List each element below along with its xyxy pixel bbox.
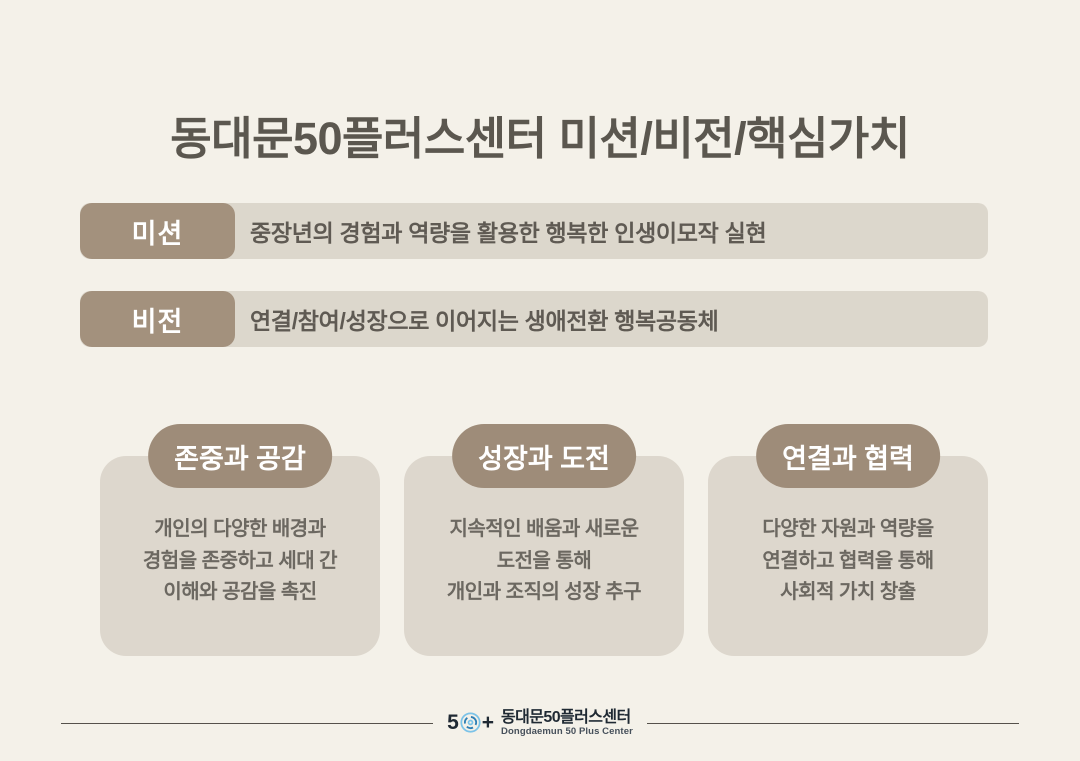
core-value-card-collaboration: 연결과 협력 다양한 자원과 역량을 연결하고 협력을 통해 사회적 가치 창출 — [708, 456, 988, 656]
footer-divider-right — [647, 723, 1019, 724]
description-line: 연결하고 협력을 통해 — [718, 546, 978, 578]
core-value-heading: 존중과 공감 — [148, 424, 332, 488]
description-line: 경험을 존중하고 세대 간 — [110, 546, 370, 578]
footer-divider-left — [61, 723, 433, 724]
description-line: 이해와 공감을 촉진 — [110, 577, 370, 609]
center-logo: 5 + 동대문50플러스센터 Dongdaemun 50 Plus Center — [433, 709, 647, 737]
page-title: 동대문50플러스센터 미션/비전/핵심가치 — [0, 102, 1080, 167]
description-line: 도전을 통해 — [414, 546, 674, 578]
vision-text: 연결/참여/성장으로 이어지는 생애전환 행복공동체 — [250, 291, 719, 347]
vision-row: 비전 연결/참여/성장으로 이어지는 생애전환 행복공동체 — [80, 291, 988, 347]
footer: 5 + 동대문50플러스센터 Dongdaemun 50 Plus Center — [0, 700, 1080, 746]
description-line: 지속적인 배움과 새로운 — [414, 514, 674, 546]
core-value-description: 개인의 다양한 배경과 경험을 존중하고 세대 간 이해와 공감을 촉진 — [110, 514, 370, 609]
description-line: 개인의 다양한 배경과 — [110, 514, 370, 546]
core-value-description: 지속적인 배움과 새로운 도전을 통해 개인과 조직의 성장 추구 — [414, 514, 674, 609]
fifty-plus-logo-mark: 5 + — [447, 712, 494, 733]
mission-text: 중장년의 경험과 역량을 활용한 행복한 인생이모작 실현 — [250, 203, 766, 259]
description-line: 사회적 가치 창출 — [718, 577, 978, 609]
logo-wordmark: 동대문50플러스센터 Dongdaemun 50 Plus Center — [501, 709, 633, 737]
vision-label-pill: 비전 — [80, 291, 235, 347]
fifty-plus-circle-logo-icon — [460, 712, 481, 733]
mission-label-pill: 미션 — [80, 203, 235, 259]
logo-plus-sign: + — [482, 712, 494, 733]
logo-digit-five: 5 — [447, 712, 459, 733]
core-value-card-respect: 존중과 공감 개인의 다양한 배경과 경험을 존중하고 세대 간 이해와 공감을… — [100, 456, 380, 656]
core-value-heading: 성장과 도전 — [452, 424, 636, 488]
core-value-description: 다양한 자원과 역량을 연결하고 협력을 통해 사회적 가치 창출 — [718, 514, 978, 609]
core-value-card-growth: 성장과 도전 지속적인 배움과 새로운 도전을 통해 개인과 조직의 성장 추구 — [404, 456, 684, 656]
description-line: 개인과 조직의 성장 추구 — [414, 577, 674, 609]
logo-name-en: Dongdaemun 50 Plus Center — [501, 727, 633, 737]
logo-name-ko: 동대문50플러스센터 — [501, 709, 633, 726]
slide-canvas: 동대문50플러스센터 미션/비전/핵심가치 미션 중장년의 경험과 역량을 활용… — [0, 0, 1080, 761]
core-value-heading: 연결과 협력 — [756, 424, 940, 488]
core-values-group: 존중과 공감 개인의 다양한 배경과 경험을 존중하고 세대 간 이해와 공감을… — [100, 424, 988, 656]
description-line: 다양한 자원과 역량을 — [718, 514, 978, 546]
mission-row: 미션 중장년의 경험과 역량을 활용한 행복한 인생이모작 실현 — [80, 203, 988, 259]
